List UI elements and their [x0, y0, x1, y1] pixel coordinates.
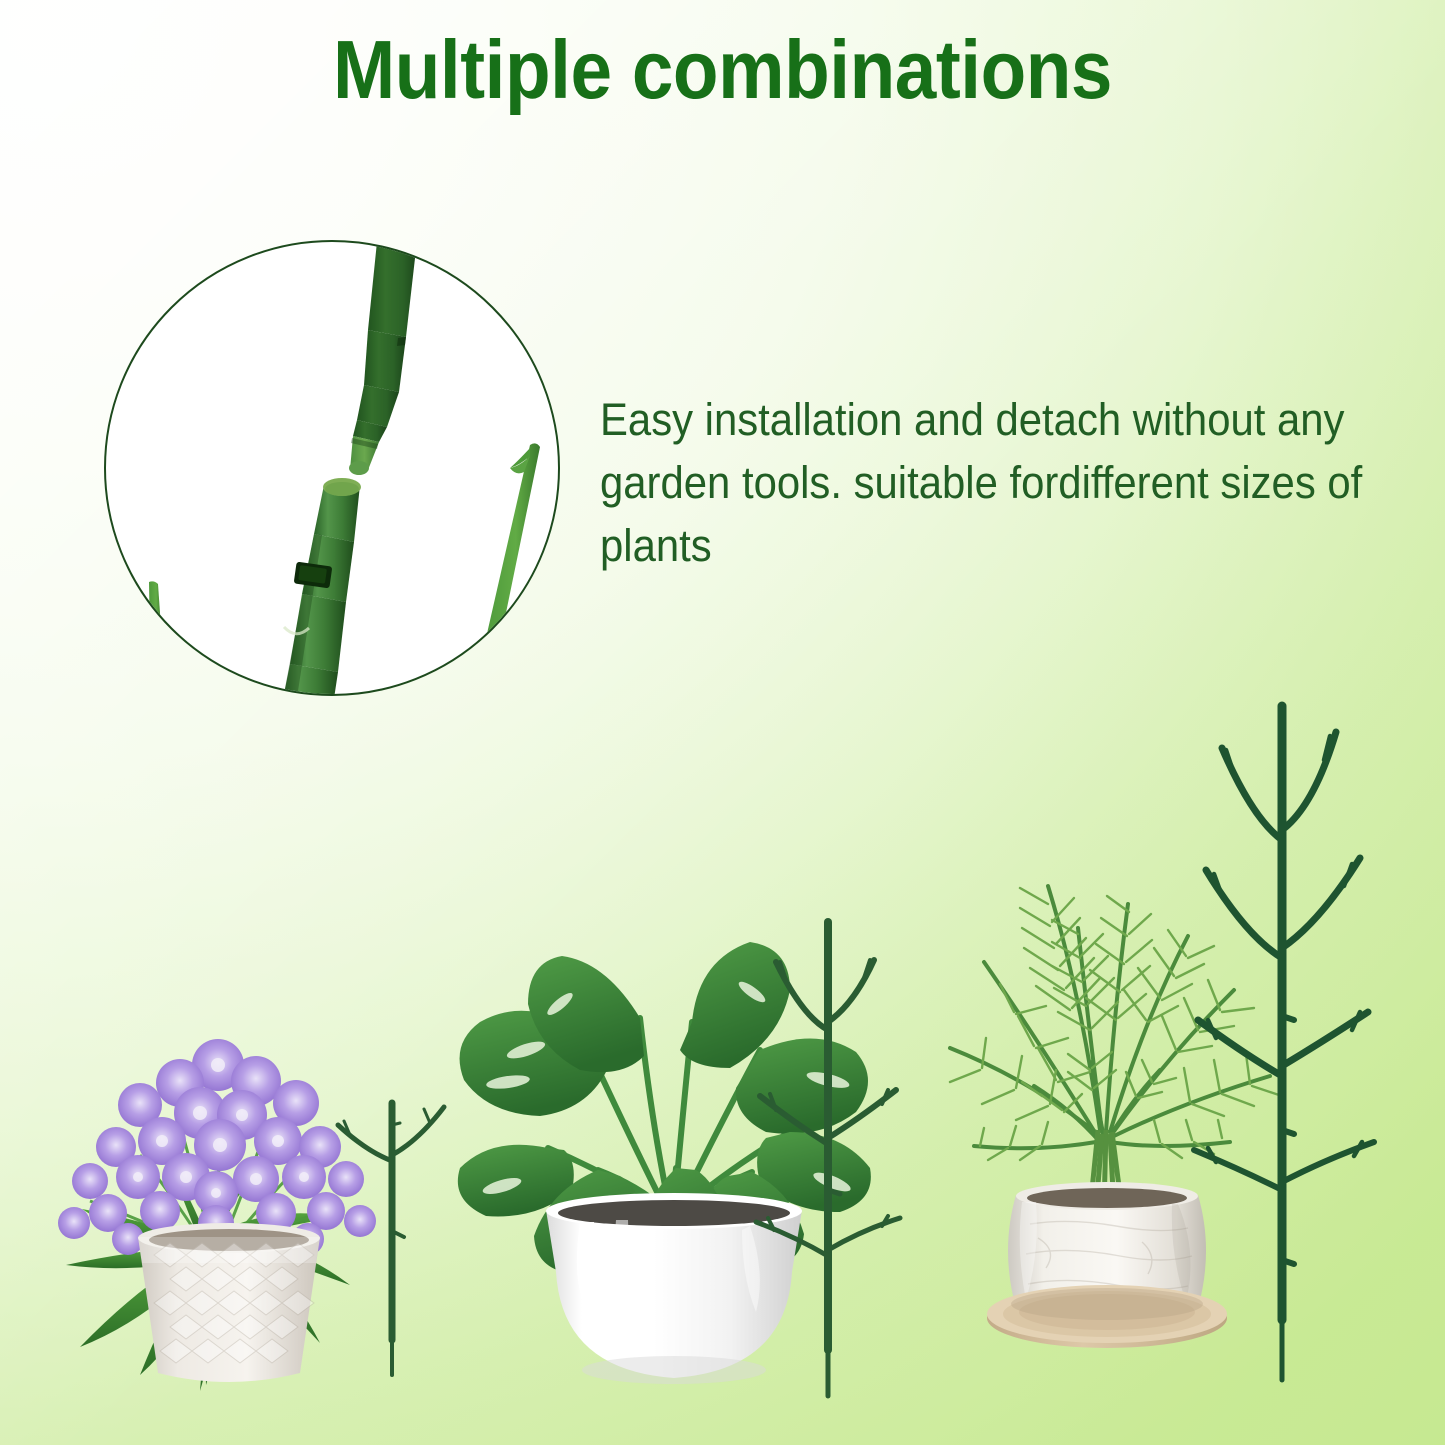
product-palm-plant: [930, 690, 1440, 1390]
product-flowering-plant: [20, 955, 470, 1415]
connector-detail-inset: [104, 240, 560, 696]
plant-stake-large: [1194, 706, 1374, 1380]
palm-foliage: [950, 886, 1282, 1160]
flowering-plant-blossoms: [58, 1039, 376, 1255]
left-stake-fragment: [149, 581, 162, 642]
page-title: Multiple combinations: [72, 26, 1373, 114]
flowering-plant-pot: [138, 1223, 320, 1382]
right-stake-fragment: [486, 443, 540, 642]
feature-description: Easy installation and detach without any…: [600, 388, 1372, 577]
monstera-pot: [546, 1193, 802, 1384]
plant-stake-small: [338, 1103, 444, 1375]
inset-disc: [104, 240, 560, 696]
product-feature-image: Multiple combinations Easy installation …: [0, 0, 1445, 1445]
connector-detail-illustration: [106, 242, 560, 696]
lower-stake-socket: [282, 478, 361, 696]
upper-stake-segment: [349, 242, 418, 475]
product-monstera-plant: [430, 900, 930, 1415]
palm-saucer: [987, 1285, 1227, 1348]
